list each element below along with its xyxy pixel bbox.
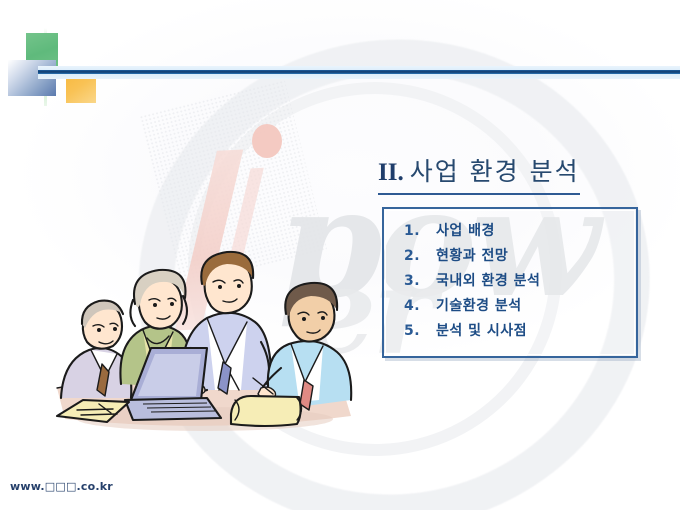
agenda-item-label: 기술환경 분석 — [436, 295, 522, 315]
agenda-item[interactable]: 2. 현황과 전망 — [404, 245, 636, 270]
presentation-slide: pow er .ol { fill:none; stroke:#1b1b1b; … — [0, 0, 680, 510]
agenda-item[interactable]: 3. 국내외 환경 분석 — [404, 270, 636, 295]
agenda-item-number: 3. — [404, 273, 436, 289]
business-team-clipart: .ol { fill:none; stroke:#1b1b1b; stroke-… — [55, 238, 355, 453]
header-rule-line — [38, 70, 680, 74]
agenda-item-label: 현황과 전망 — [436, 245, 508, 265]
agenda-item-number: 4. — [404, 298, 436, 314]
agenda-item-number: 2. — [404, 248, 436, 264]
agenda-item[interactable]: 5. 분석 및 시사점 — [404, 320, 636, 345]
agenda-list: 1. 사업 배경 2. 현황과 전망 3. 국내외 환경 분석 4. 기술환경 … — [384, 209, 636, 356]
agenda-item[interactable]: 1. 사업 배경 — [404, 220, 636, 245]
agenda-box: 1. 사업 배경 2. 현황과 전망 3. 국내외 환경 분석 4. 기술환경 … — [382, 207, 638, 358]
agenda-item[interactable]: 4. 기술환경 분석 — [404, 295, 636, 320]
agenda-item-label: 분석 및 시사점 — [436, 320, 527, 340]
agenda-item-number: 1. — [404, 223, 436, 239]
footer-website-url[interactable]: www.□□□.co.kr — [10, 480, 113, 493]
slide-title-subject: 사업 환경 분석 — [410, 157, 580, 186]
agenda-item-label: 사업 배경 — [436, 220, 495, 240]
agenda-item-label: 국내외 환경 분석 — [436, 270, 540, 290]
watermark-letter-i-dot — [252, 124, 282, 158]
slide-title-numeral: II. — [378, 159, 404, 186]
slide-title: II.사업 환경 분석 — [378, 152, 580, 195]
agenda-item-number: 5. — [404, 323, 436, 339]
